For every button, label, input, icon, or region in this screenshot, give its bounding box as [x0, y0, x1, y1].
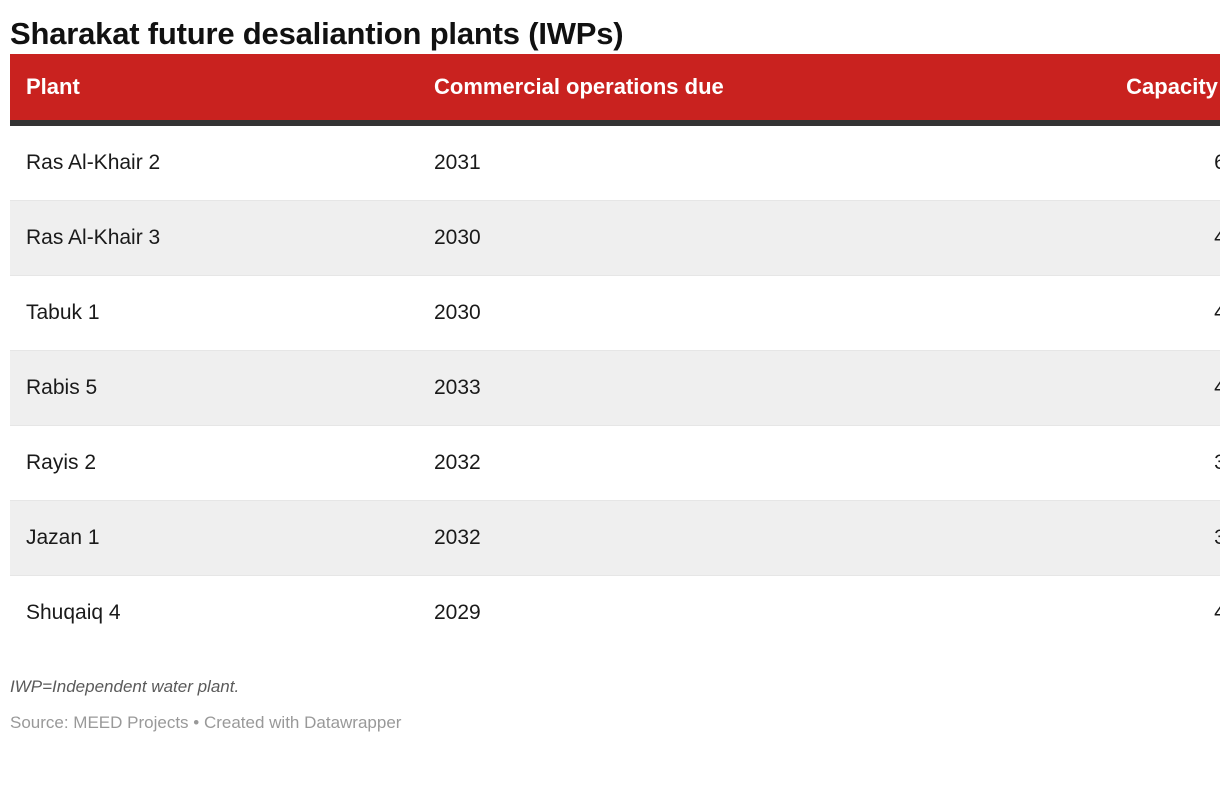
column-header-capacity[interactable]: Capacity (cm/d)	[880, 54, 1220, 123]
footnote: IWP=Independent water plant.	[10, 676, 1210, 698]
cell-plant: Rabis 5	[10, 351, 418, 426]
source-credit: Source: MEED Projects • Created with Dat…	[10, 712, 1210, 734]
column-header-commercial-operations-due[interactable]: Commercial operations due	[418, 54, 880, 123]
cell-commercial-operations-due: 2030	[418, 201, 880, 276]
cell-capacity: 300,000	[880, 501, 1220, 576]
page-title: Sharakat future desaliantion plants (IWP…	[0, 0, 1220, 54]
table-header: Plant Commercial operations due Capacity…	[10, 54, 1220, 123]
cell-plant: Jazan 1	[10, 501, 418, 576]
cell-plant: Rayis 2	[10, 426, 418, 501]
cell-capacity: 300,000	[880, 426, 1220, 501]
cell-capacity: 600,000	[880, 123, 1220, 201]
cell-plant: Ras Al-Khair 3	[10, 201, 418, 276]
datawrapper-table-chart: Sharakat future desaliantion plants (IWP…	[0, 0, 1220, 802]
table-container: Plant Commercial operations due Capacity…	[0, 54, 1220, 650]
cell-commercial-operations-due: 2032	[418, 426, 880, 501]
cell-plant: Ras Al-Khair 2	[10, 123, 418, 201]
cell-plant: Tabuk 1	[10, 276, 418, 351]
data-table: Plant Commercial operations due Capacity…	[10, 54, 1220, 650]
cell-capacity: 400,000	[880, 201, 1220, 276]
cell-commercial-operations-due: 2032	[418, 501, 880, 576]
table-row: Rayis 2 2032 300,000	[10, 426, 1220, 501]
table-row: Tabuk 1 2030 400,000	[10, 276, 1220, 351]
cell-commercial-operations-due: 2031	[418, 123, 880, 201]
column-header-plant[interactable]: Plant	[10, 54, 418, 123]
cell-commercial-operations-due: 2030	[418, 276, 880, 351]
table-row: Ras Al-Khair 3 2030 400,000	[10, 201, 1220, 276]
table-row: Ras Al-Khair 2 2031 600,000	[10, 123, 1220, 201]
cell-capacity: 400,000	[880, 351, 1220, 426]
cell-commercial-operations-due: 2029	[418, 576, 880, 651]
chart-footer: IWP=Independent water plant. Source: MEE…	[0, 650, 1220, 734]
cell-capacity: 400,000	[880, 576, 1220, 651]
table-header-row: Plant Commercial operations due Capacity…	[10, 54, 1220, 123]
cell-commercial-operations-due: 2033	[418, 351, 880, 426]
cell-plant: Shuqaiq 4	[10, 576, 418, 651]
table-row: Rabis 5 2033 400,000	[10, 351, 1220, 426]
cell-capacity: 400,000	[880, 276, 1220, 351]
table-row: Shuqaiq 4 2029 400,000	[10, 576, 1220, 651]
table-row: Jazan 1 2032 300,000	[10, 501, 1220, 576]
table-body: Ras Al-Khair 2 2031 600,000 Ras Al-Khair…	[10, 123, 1220, 650]
